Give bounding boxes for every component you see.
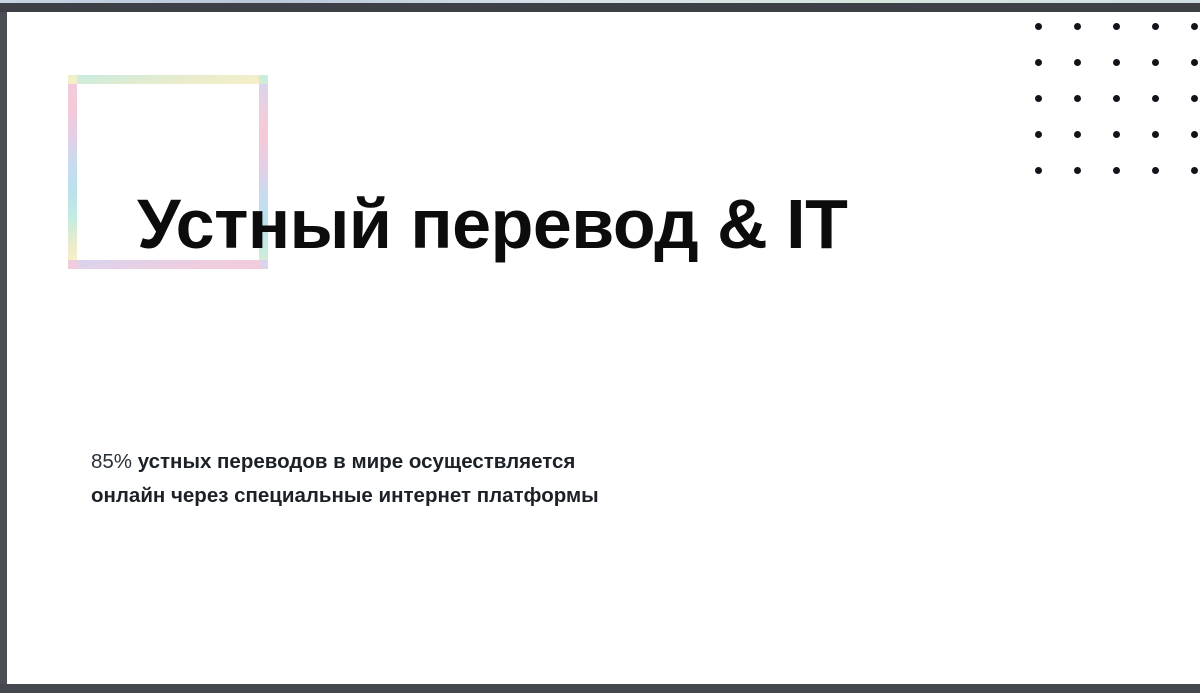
grid-dot	[1191, 131, 1198, 138]
grid-dot	[1035, 131, 1042, 138]
grid-dot	[1113, 59, 1120, 66]
grid-dot	[1113, 23, 1120, 30]
window-top-bar	[0, 3, 1200, 12]
dot-grid	[1035, 23, 1197, 174]
grid-dot	[1191, 95, 1198, 102]
grid-dot	[1152, 59, 1159, 66]
grid-dot	[1035, 59, 1042, 66]
grid-dot	[1152, 23, 1159, 30]
page-title: Устный перевод & IT	[137, 187, 997, 263]
slide-body-text: 85% устных переводов в мире осуществляет…	[91, 445, 611, 513]
window-left-edge	[0, 12, 7, 693]
grid-dot	[1074, 23, 1081, 30]
grid-dot	[1074, 59, 1081, 66]
stat-description: устных переводов в мире осуществляется о…	[91, 450, 599, 507]
grid-dot	[1035, 23, 1042, 30]
grid-dot	[1074, 131, 1081, 138]
grid-dot	[1113, 131, 1120, 138]
grid-dot	[1074, 167, 1081, 174]
grid-dot	[1191, 23, 1198, 30]
slide-viewport: Устный перевод & IT 85% устных переводов…	[0, 0, 1200, 693]
stat-percentage: 85%	[91, 450, 132, 473]
slide-canvas: Устный перевод & IT 85% устных переводов…	[7, 12, 1200, 684]
grid-dot	[1035, 167, 1042, 174]
window-bottom-edge	[0, 684, 1200, 693]
grid-dot	[1191, 59, 1198, 66]
grid-dot	[1191, 167, 1198, 174]
grid-dot	[1074, 95, 1081, 102]
grid-dot	[1113, 95, 1120, 102]
grid-dot	[1152, 167, 1159, 174]
grid-dot	[1035, 95, 1042, 102]
grid-dot	[1113, 167, 1120, 174]
grid-dot	[1152, 95, 1159, 102]
grid-dot	[1152, 131, 1159, 138]
